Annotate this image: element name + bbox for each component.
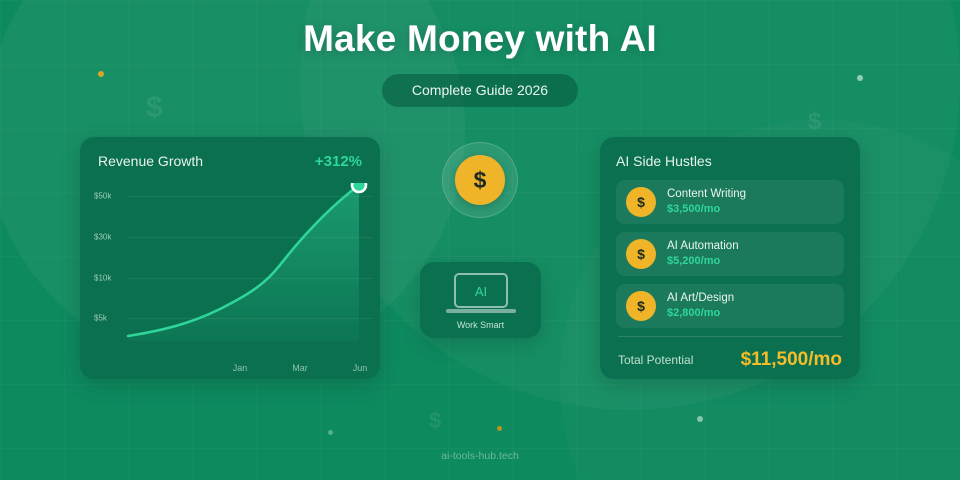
coin-badge: $ — [442, 142, 518, 218]
list-item-text: AI Automation $5,200/mo — [667, 239, 739, 269]
footer-site-url: ai-tools-hub.tech — [0, 450, 960, 462]
laptop-screen-text: AI — [474, 284, 486, 299]
chart-delta-badge: +312% — [315, 153, 362, 170]
decorative-dot-light — [697, 416, 703, 422]
work-smart-card: AI Work Smart — [420, 262, 541, 338]
revenue-line-chart: $50k $30k $10k $5k Jan Mar Jun Dec — [80, 183, 380, 379]
chart-xtick: Mar — [292, 363, 308, 373]
total-label: Total Potential — [618, 353, 693, 367]
decorative-dot-gold — [497, 426, 502, 431]
decorative-dollar-icon: $ — [429, 410, 441, 432]
list-item-text: AI Art/Design $2,800/mo — [667, 291, 734, 321]
list-item[interactable]: $ AI Automation $5,200/mo — [616, 232, 844, 276]
chart-xtick: Jan — [233, 363, 248, 373]
chart-title: Revenue Growth — [98, 153, 203, 169]
chart-endpoint-marker — [352, 183, 366, 192]
hustle-price: $3,500/mo — [667, 202, 746, 217]
chart-area-fill — [128, 185, 359, 341]
dollar-icon: $ — [626, 239, 656, 269]
chart-header: Revenue Growth +312% — [98, 153, 362, 170]
hustle-price: $2,800/mo — [667, 306, 734, 321]
laptop-icon: AI — [444, 273, 518, 315]
list-item-text: Content Writing $3,500/mo — [667, 187, 746, 217]
decorative-dot-light — [328, 430, 333, 435]
hustle-name: AI Automation — [667, 239, 739, 255]
revenue-growth-card: Revenue Growth +312% $50k $30k $10k $5k … — [80, 137, 380, 379]
subtitle-badge: Complete Guide 2026 — [382, 74, 578, 107]
hustles-title: AI Side Hustles — [616, 153, 844, 169]
hustle-price: $5,200/mo — [667, 254, 739, 269]
total-value: $11,500/mo — [741, 349, 842, 371]
dollar-icon: $ — [626, 187, 656, 217]
total-potential-row: Total Potential $11,500/mo — [616, 337, 844, 371]
header: Make Money with AI Complete Guide 2026 — [0, 0, 960, 107]
chart-series-path — [80, 183, 380, 379]
decorative-dollar-icon: $ — [808, 110, 821, 134]
ai-side-hustles-card: AI Side Hustles $ Content Writing $3,500… — [600, 137, 860, 379]
dollar-icon: $ — [455, 155, 505, 205]
list-item[interactable]: $ Content Writing $3,500/mo — [616, 180, 844, 224]
hustle-name: AI Art/Design — [667, 291, 734, 307]
dollar-icon: $ — [626, 291, 656, 321]
hustle-name: Content Writing — [667, 187, 746, 203]
page-title: Make Money with AI — [0, 18, 960, 60]
list-item[interactable]: $ AI Art/Design $2,800/mo — [616, 284, 844, 328]
chart-xtick: Jun — [353, 363, 368, 373]
laptop-caption: Work Smart — [420, 320, 541, 330]
